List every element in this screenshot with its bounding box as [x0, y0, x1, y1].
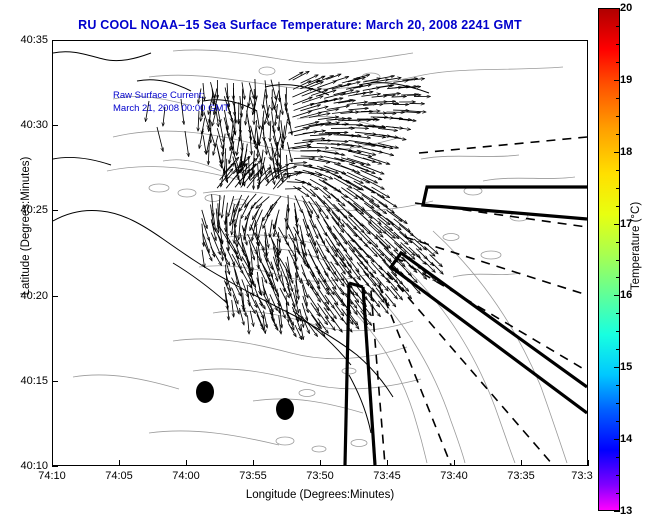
y-axis-tick: 40:30 [20, 119, 48, 131]
colorbar-minor-tick [616, 295, 620, 296]
x-axis-tick-mark [521, 460, 522, 466]
colorbar-minor-tick [616, 224, 620, 225]
colorbar-minor-tick [616, 80, 620, 81]
colorbar-minor-tick [616, 439, 620, 440]
y-axis-tick: 40:25 [20, 204, 48, 216]
y-axis-tick-mark [52, 210, 58, 211]
colorbar-minor-tick [616, 44, 620, 45]
colorbar-tick: 19 [620, 74, 632, 86]
plot-area: Raw Surface Current: March 21, 2008 00:0… [52, 40, 588, 466]
colorbar-tick: 17 [620, 218, 632, 230]
colorbar-tick: 13 [620, 505, 632, 517]
y-axis-tick-mark [52, 125, 58, 126]
y-axis-tick: 40:35 [20, 34, 48, 46]
x-axis-tick-mark [186, 460, 187, 466]
x-axis-tick: 74:00 [172, 470, 200, 482]
y-axis-tick: 40:15 [20, 375, 48, 387]
colorbar-tick: 18 [620, 146, 632, 158]
x-axis-tick-mark [387, 460, 388, 466]
annotation-text: Raw Surface Current: March 21, 2008 00:0… [113, 89, 229, 115]
colorbar-minor-tick [616, 367, 620, 368]
colorbar-tick: 16 [620, 289, 632, 301]
colorbar-minor-tick [616, 493, 620, 494]
x-axis-tick: 73:50 [306, 470, 334, 482]
colorbar-minor-tick [616, 8, 620, 9]
colorbar-minor-tick [616, 116, 620, 117]
x-axis-tick: 73:3 [571, 470, 592, 482]
colorbar-minor-tick [616, 403, 620, 404]
colorbar-minor-tick [616, 188, 620, 189]
colorbar-minor-tick [616, 421, 620, 422]
x-axis-label: Longitude (Degrees:Minutes) [52, 489, 588, 501]
colorbar-minor-tick [616, 475, 620, 476]
colorbar-minor-tick [616, 206, 620, 207]
sst-current-map-figure: RU COOL NOAA–15 Sea Surface Temperature:… [0, 0, 651, 518]
y-axis-tick-mark [52, 296, 58, 297]
colorbar-minor-tick [616, 385, 620, 386]
colorbar-minor-tick [616, 152, 620, 153]
colorbar-minor-tick [616, 457, 620, 458]
colorbar-tick: 14 [620, 433, 632, 445]
y-axis-tick: 40:20 [20, 290, 48, 302]
colorbar-minor-tick [616, 260, 620, 261]
x-axis-tick: 73:40 [440, 470, 468, 482]
annotation-line-1: Raw Surface Current: [113, 89, 229, 102]
x-axis-tick: 74:05 [105, 470, 133, 482]
y-axis-label: Latitude (Degrees:Minutes) [20, 116, 32, 336]
colorbar-minor-tick [616, 134, 620, 135]
x-axis-tick-mark [454, 460, 455, 466]
x-axis-tick: 73:55 [239, 470, 267, 482]
colorbar-minor-tick [616, 331, 620, 332]
colorbar-minor-tick [616, 242, 620, 243]
colorbar-label: Temperature (°C) [630, 166, 642, 326]
x-axis-tick: 73:35 [507, 470, 535, 482]
colorbar-minor-tick [616, 349, 620, 350]
colorbar-minor-tick [616, 26, 620, 27]
colorbar-minor-tick [616, 313, 620, 314]
figure-title: RU COOL NOAA–15 Sea Surface Temperature:… [0, 18, 600, 32]
colorbar-minor-tick [616, 511, 620, 512]
colorbar-minor-tick [616, 98, 620, 99]
x-axis-tick: 73:45 [373, 470, 401, 482]
x-axis-tick-mark [253, 460, 254, 466]
colorbar-minor-tick [616, 277, 620, 278]
colorbar-tick: 15 [620, 361, 632, 373]
x-axis-tick-mark [320, 460, 321, 466]
colorbar-minor-tick [616, 62, 620, 63]
y-axis-tick-mark [52, 381, 58, 382]
x-axis-tick-mark [588, 460, 589, 466]
colorbar-tick: 20 [620, 2, 632, 14]
y-axis-tick-mark [52, 40, 58, 41]
annotation-line-2: March 21, 2008 00:00 GMT [113, 102, 229, 115]
y-axis-tick-mark [52, 466, 58, 467]
x-axis-tick-mark [119, 460, 120, 466]
colorbar-minor-tick [616, 170, 620, 171]
y-axis-tick: 40:10 [20, 460, 48, 472]
